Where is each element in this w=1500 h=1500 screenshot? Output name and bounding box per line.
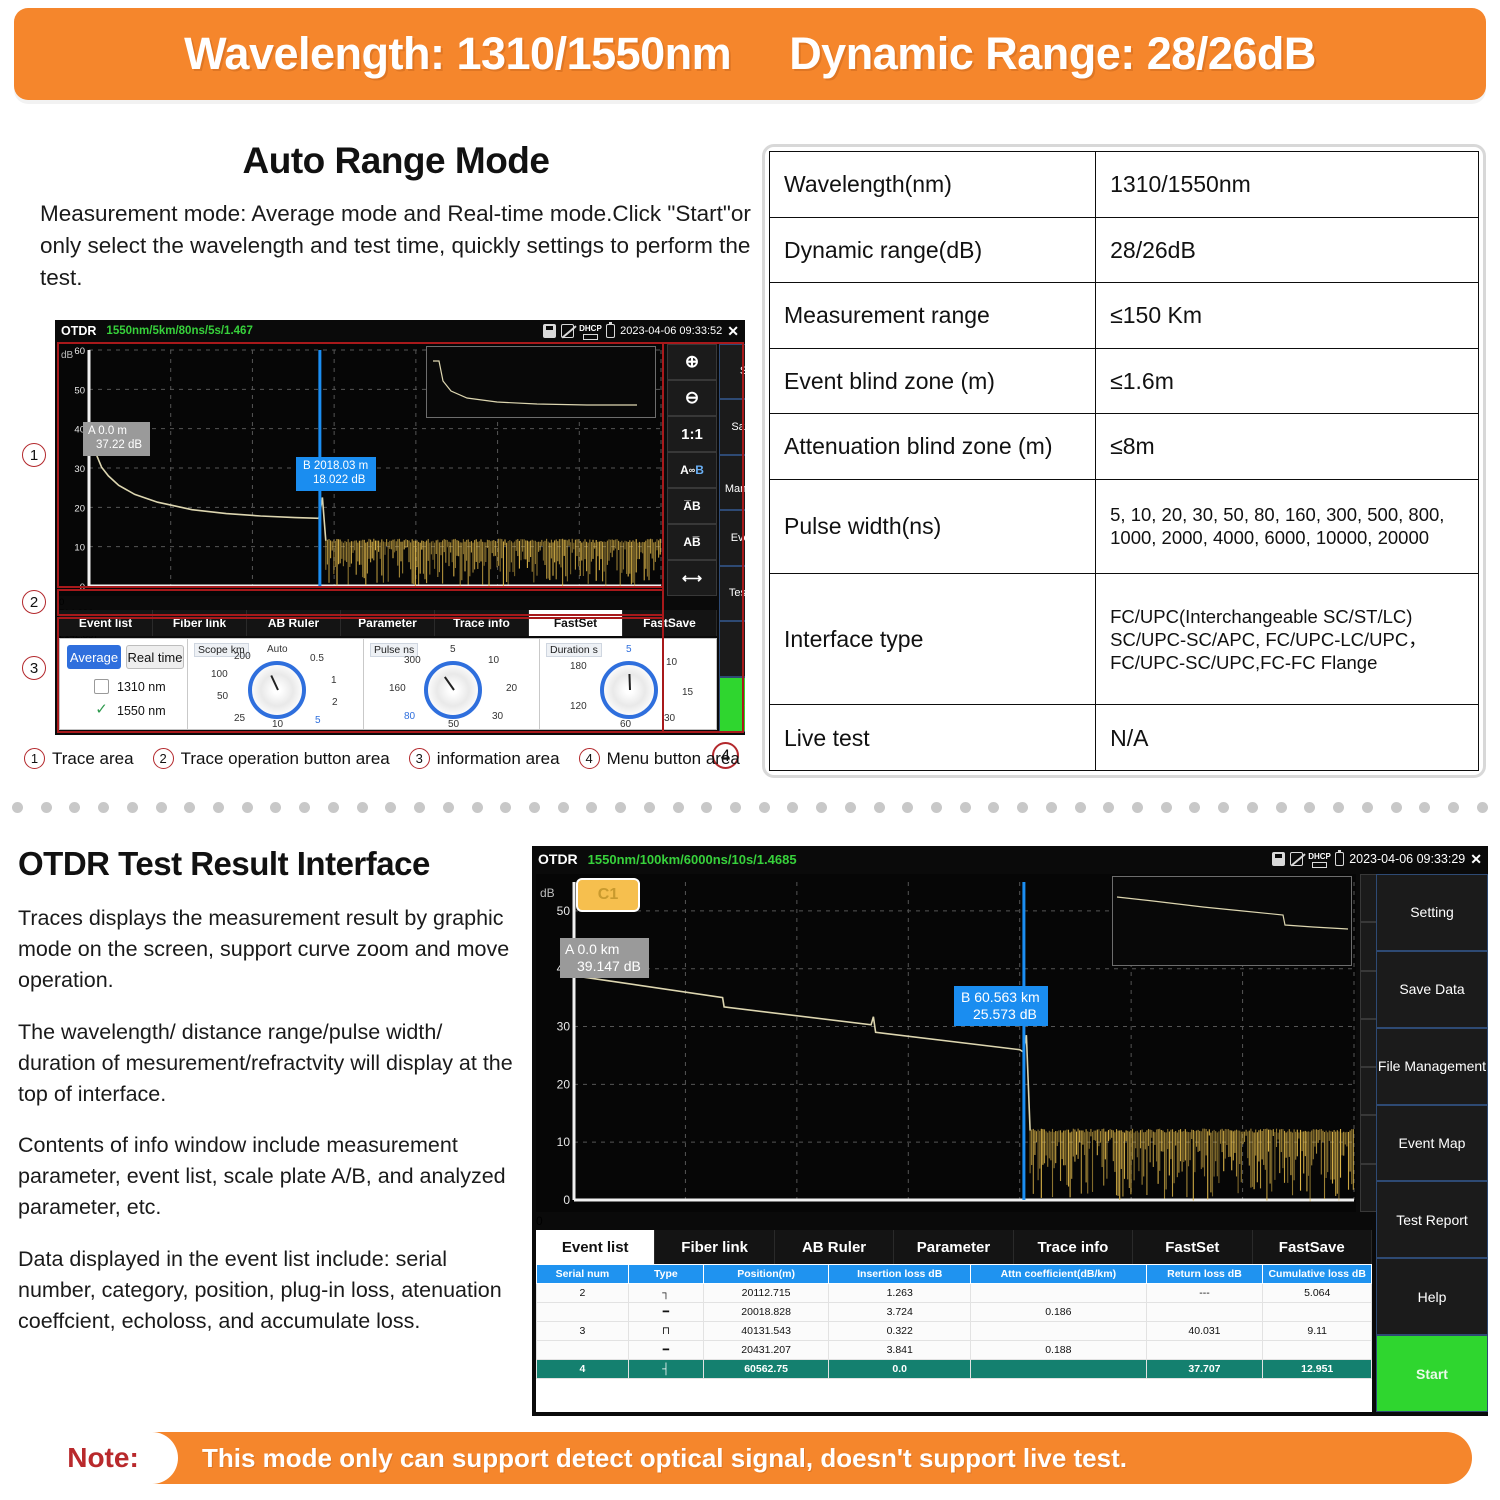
callout-frame-trace-area — [57, 342, 664, 588]
table-row: Interface type FC/UPC(Interchangeable SC… — [770, 574, 1479, 705]
tab-event-list[interactable]: Event list — [536, 1230, 655, 1264]
callout-1: 1 — [22, 443, 46, 467]
cell-position: 20018.828 — [703, 1303, 828, 1322]
auto-range-mode-block: Auto Range Mode Measurement mode: Averag… — [40, 140, 752, 294]
divider-dot — [472, 802, 483, 813]
device1-legend: 1 Trace area 2 Trace operation button ar… — [24, 748, 752, 769]
column-header: Type — [628, 1265, 703, 1284]
svg-text:50: 50 — [557, 904, 571, 918]
battery-icon-2 — [1335, 852, 1344, 866]
otdr-device-screen-2[interactable]: OTDR 1550nm/100km/6000ns/10s/1.4685 DHCP… — [532, 846, 1488, 1416]
callout-frame-info-area — [57, 617, 664, 733]
divider-dot — [41, 802, 52, 813]
banner-dynamic-range: Dynamic Range: 28/26dB — [789, 28, 1316, 80]
divider-dot — [1419, 802, 1430, 813]
device2-menu-buttons[interactable]: SettingSave DataFile ManagementEvent Map… — [1376, 874, 1488, 1412]
divider-dot — [816, 802, 827, 813]
divider-dot — [1103, 802, 1114, 813]
device2-trace-area[interactable]: dB 50403020100 C1 A 0.0 km 39.147 dB B 6… — [536, 874, 1356, 1212]
cell-return-loss: 37.707 — [1146, 1360, 1263, 1379]
cell-insertion-loss: 0.322 — [829, 1322, 971, 1341]
curve-badge-c1[interactable]: C1 — [576, 878, 640, 912]
spec-value: 1310/1550nm — [1096, 152, 1479, 218]
callout-2: 2 — [22, 590, 46, 614]
divider-dot — [730, 802, 741, 813]
marker-a-value-2: 39.147 dB — [565, 958, 641, 975]
reflective-event-icon: ┐ — [628, 1284, 703, 1303]
divider-dot — [12, 802, 23, 813]
divider-dot — [156, 802, 167, 813]
banner-wavelength: Wavelength: 1310/1550nm — [184, 28, 731, 80]
cell-return-loss — [1146, 1303, 1263, 1322]
divider-dot — [1247, 802, 1258, 813]
tab-fiber-link[interactable]: Fiber link — [655, 1230, 774, 1264]
cell-attn-coefficient: 0.186 — [971, 1303, 1146, 1322]
divider-dot — [443, 802, 454, 813]
spec-key: Event blind zone (m) — [770, 348, 1096, 414]
marker-a-2[interactable]: A 0.0 km 39.147 dB — [560, 938, 649, 978]
result-paragraph-4: Data displayed in the event list include… — [18, 1244, 518, 1338]
sim-card-icon-2 — [1272, 852, 1285, 866]
table-row: Attenuation blind zone (m) ≤8m — [770, 414, 1479, 480]
cell-position: 20112.715 — [703, 1284, 828, 1303]
marker-b-label-2: B 60.563 km — [961, 989, 1040, 1006]
table-row[interactable]: ━20018.8283.7240.186 — [537, 1303, 1372, 1322]
marker-b-2[interactable]: B 60.563 km 25.573 dB — [954, 986, 1048, 1026]
fiber-section-icon: ━ — [628, 1341, 703, 1360]
device2-datetime: 2023-04-06 09:33:29 — [1349, 852, 1465, 866]
spec-value: ≤8m — [1096, 414, 1479, 480]
divider-dot — [1218, 802, 1229, 813]
table-row: Event blind zone (m) ≤1.6m — [770, 348, 1479, 414]
cell-position: 20431.207 — [703, 1341, 828, 1360]
cell-attn-coefficient: 0.188 — [971, 1341, 1146, 1360]
divider-dot — [931, 802, 942, 813]
spec-key: Pulse width(ns) — [770, 479, 1096, 574]
divider-dot — [1132, 802, 1143, 813]
legend-num-1: 1 — [24, 748, 45, 769]
dhcp-icon-2: DHCP — [1308, 852, 1330, 866]
dhcp-icon: DHCP — [579, 324, 601, 338]
divider-dot — [414, 802, 425, 813]
callout-frame-menu-area — [662, 342, 744, 733]
no-sdcard-icon-2 — [1290, 852, 1303, 866]
divider-dot — [1391, 802, 1402, 813]
divider-dot — [701, 802, 712, 813]
cell-position: 40131.543 — [703, 1322, 828, 1341]
column-header: Cumulative loss dB — [1263, 1265, 1372, 1284]
table-row[interactable]: 4┤60562.750.037.70712.951 — [537, 1360, 1372, 1379]
device2-titlebar: OTDR 1550nm/100km/6000ns/10s/1.4685 DHCP… — [532, 846, 1488, 872]
callout-3: 3 — [22, 656, 46, 680]
auto-range-description: Measurement mode: Average mode and Real-… — [40, 198, 752, 294]
spec-key: Interface type — [770, 574, 1096, 705]
device2-event-table-wrap[interactable]: Serial numTypePosition(m)Insertion loss … — [536, 1264, 1372, 1412]
svg-text:20: 20 — [557, 1077, 571, 1091]
event-list-table: Serial numTypePosition(m)Insertion loss … — [536, 1264, 1372, 1379]
specification-table-card: Wavelength(nm) 1310/1550nm Dynamic range… — [762, 144, 1486, 778]
divider-dot — [586, 802, 597, 813]
divider-dot — [184, 802, 195, 813]
divider-dot — [960, 802, 971, 813]
svg-text:10: 10 — [557, 1135, 571, 1149]
spec-value: 28/26dB — [1096, 217, 1479, 283]
column-header: Insertion loss dB — [829, 1265, 971, 1284]
column-header: Attn coefficient(dB/km) — [971, 1265, 1146, 1284]
divider-dot — [529, 802, 540, 813]
cell-insertion-loss: 3.724 — [829, 1303, 971, 1322]
divider-dot — [1017, 802, 1028, 813]
cell-cumulative-loss: 5.064 — [1263, 1284, 1372, 1303]
tab-parameter[interactable]: Parameter — [894, 1230, 1013, 1264]
top-banner: Wavelength: 1310/1550nm Dynamic Range: 2… — [14, 8, 1486, 100]
device1-titlebar: OTDR 1550nm/5km/80ns/5s/1.467 DHCP 2023-… — [55, 320, 745, 342]
divider-dot — [759, 802, 770, 813]
legend-num-2: 2 — [153, 748, 174, 769]
spec-key: Attenuation blind zone (m) — [770, 414, 1096, 480]
legend-text-1: Trace area — [52, 749, 134, 769]
table-row[interactable]: 2┐20112.7151.263---5.064 — [537, 1284, 1372, 1303]
divider-dot — [385, 802, 396, 813]
divider-dot — [1276, 802, 1287, 813]
spec-key: Live test — [770, 705, 1096, 771]
cell-attn-coefficient — [971, 1360, 1146, 1379]
page-root: Wavelength: 1310/1550nm Dynamic Range: 2… — [0, 0, 1500, 1500]
table-row: Pulse width(ns) 5, 10, 20, 30, 50, 80, 1… — [770, 479, 1479, 574]
result-paragraph-3: Contents of info window include measurem… — [18, 1130, 518, 1224]
cell-return-loss: 40.031 — [1146, 1322, 1263, 1341]
battery-icon — [606, 324, 615, 338]
spec-value: FC/UPC(Interchangeable SC/ST/LC) SC/UPC-… — [1096, 574, 1479, 705]
cell-serial: 3 — [537, 1322, 629, 1341]
cell-insertion-loss: 3.841 — [829, 1341, 971, 1360]
app-name: OTDR — [61, 324, 96, 338]
marker-a-label-2: A 0.0 km — [565, 941, 641, 958]
device2-tabbar[interactable]: Event listFiber linkAB RulerParameterTra… — [536, 1230, 1372, 1264]
divider-dot — [69, 802, 80, 813]
inset-mini-trace-2 — [1113, 877, 1353, 967]
note-label: Note: — [67, 1442, 139, 1474]
close-icon-2[interactable]: ✕ — [1470, 852, 1482, 866]
cell-return-loss — [1146, 1341, 1263, 1360]
x-tick-label: 0 — [536, 1214, 584, 1228]
table-row[interactable]: ━20431.2073.8410.188 — [537, 1341, 1372, 1360]
menu-button-start[interactable]: Start — [1376, 1335, 1488, 1412]
page-title-test-result: OTDR Test Result Interface — [18, 845, 518, 883]
device2-overview-inset — [1112, 876, 1352, 966]
divider-dot — [242, 802, 253, 813]
divider-dot — [1161, 802, 1172, 813]
divider-dot — [357, 802, 368, 813]
divider-dot — [270, 802, 281, 813]
divider-dot — [558, 802, 569, 813]
cell-cumulative-loss — [1263, 1303, 1372, 1322]
spec-key: Dynamic range(dB) — [770, 217, 1096, 283]
legend-num-3: 3 — [409, 748, 430, 769]
close-icon[interactable]: ✕ — [727, 324, 739, 338]
divider-dot — [787, 802, 798, 813]
event-table-header-row: Serial numTypePosition(m)Insertion loss … — [537, 1265, 1372, 1284]
divider-dot — [1046, 802, 1057, 813]
divider-dot — [1075, 802, 1086, 813]
measurement-params-2: 1550nm/100km/6000ns/10s/1.4685 — [588, 852, 797, 867]
measurement-params: 1550nm/5km/80ns/5s/1.467 — [106, 325, 252, 337]
spec-value: ≤1.6m — [1096, 348, 1479, 414]
callout-frame-tabbar — [57, 589, 664, 616]
cell-serial — [537, 1303, 629, 1322]
table-row: Measurement range ≤150 Km — [770, 283, 1479, 349]
menu-button-help[interactable]: Help — [1376, 1258, 1488, 1335]
divider-dot — [988, 802, 999, 813]
tab-trace-info[interactable]: Trace info — [1014, 1230, 1133, 1264]
menu-button-setting[interactable]: Setting — [1376, 874, 1488, 951]
device2-x-axis-labels: 016.1932.38148.57164.76280.95297.143km — [536, 1214, 1356, 1229]
app-name-2: OTDR — [538, 851, 578, 867]
svg-text:0: 0 — [563, 1193, 570, 1207]
divider-dot — [1448, 802, 1459, 813]
device1-datetime: 2023-04-06 09:33:52 — [620, 325, 722, 337]
divider-dot — [328, 802, 339, 813]
legend-num-4: 4 — [579, 748, 600, 769]
legend-text-2: Trace operation button area — [181, 749, 390, 769]
divider-dot — [127, 802, 138, 813]
cell-cumulative-loss: 12.951 — [1263, 1360, 1372, 1379]
divider-dot — [874, 802, 885, 813]
tab-fastset[interactable]: FastSet — [1133, 1230, 1252, 1264]
cell-insertion-loss: 1.263 — [829, 1284, 971, 1303]
reflective-peak-icon: ⊓ — [628, 1322, 703, 1341]
cell-serial: 4 — [537, 1360, 629, 1379]
spec-key: Wavelength(nm) — [770, 152, 1096, 218]
column-header: Return loss dB — [1146, 1265, 1263, 1284]
spec-value: 5, 10, 20, 30, 50, 80, 160, 300, 500, 80… — [1096, 479, 1479, 574]
divider-dot — [213, 802, 224, 813]
cell-attn-coefficient — [971, 1284, 1146, 1303]
cell-attn-coefficient — [971, 1322, 1146, 1341]
column-header: Serial num — [537, 1265, 629, 1284]
divider-dot — [673, 802, 684, 813]
spec-key: Measurement range — [770, 283, 1096, 349]
otdr-result-text-block: OTDR Test Result Interface Traces displa… — [18, 845, 518, 1337]
note-text: This mode only can support detect optica… — [202, 1443, 1127, 1474]
no-sdcard-icon — [561, 324, 574, 338]
divider-dot — [1477, 802, 1488, 813]
fiber-end-icon: ┤ — [628, 1360, 703, 1379]
divider-dot — [1189, 802, 1200, 813]
table-row: Wavelength(nm) 1310/1550nm — [770, 152, 1479, 218]
divider-dot — [1362, 802, 1373, 813]
result-paragraph-2: The wavelength/ distance range/pulse wid… — [18, 1017, 518, 1111]
table-row: Dynamic range(dB) 28/26dB — [770, 217, 1479, 283]
page-title-auto-range: Auto Range Mode — [40, 140, 752, 182]
column-header: Position(m) — [703, 1265, 828, 1284]
divider-dot — [1304, 802, 1315, 813]
marker-b-value-2: 25.573 dB — [961, 1006, 1040, 1023]
divider-dot — [615, 802, 626, 813]
specification-table: Wavelength(nm) 1310/1550nm Dynamic range… — [769, 151, 1479, 771]
sim-card-icon — [543, 324, 556, 338]
cell-cumulative-loss — [1263, 1341, 1372, 1360]
legend-text-4: Menu button area — [607, 749, 740, 769]
divider-dot — [902, 802, 913, 813]
legend-text-3: information area — [437, 749, 560, 769]
bottom-note-bar: Note: This mode only can support detect … — [28, 1432, 1472, 1484]
tab-ab-ruler[interactable]: AB Ruler — [775, 1230, 894, 1264]
cell-serial: 2 — [537, 1284, 629, 1303]
divider-dot — [1333, 802, 1344, 813]
tab-fastsave[interactable]: FastSave — [1253, 1230, 1372, 1264]
spec-value: N/A — [1096, 705, 1479, 771]
note-badge: Note: — [28, 1432, 178, 1484]
svg-text:30: 30 — [557, 1020, 571, 1034]
divider-dot — [299, 802, 310, 813]
divider-dot — [500, 802, 511, 813]
cell-insertion-loss: 0.0 — [829, 1360, 971, 1379]
cell-position: 60562.75 — [703, 1360, 828, 1379]
result-paragraph-1: Traces displays the measurement result b… — [18, 903, 518, 997]
cell-cumulative-loss: 9.11 — [1263, 1322, 1372, 1341]
divider-dot — [644, 802, 655, 813]
menu-button-file-management[interactable]: File Management — [1376, 1028, 1488, 1105]
spec-value: ≤150 Km — [1096, 283, 1479, 349]
dotted-divider — [12, 800, 1488, 814]
divider-dot — [98, 802, 109, 813]
divider-dot — [845, 802, 856, 813]
table-row[interactable]: 3⊓40131.5430.32240.0319.11 — [537, 1322, 1372, 1341]
table-row: Live test N/A — [770, 705, 1479, 771]
menu-button-event-map[interactable]: Event Map — [1376, 1105, 1488, 1182]
cell-serial — [537, 1341, 629, 1360]
menu-button-save-data[interactable]: Save Data — [1376, 951, 1488, 1028]
fiber-section-icon: ━ — [628, 1303, 703, 1322]
cell-return-loss: --- — [1146, 1284, 1263, 1303]
menu-button-test-report[interactable]: Test Report — [1376, 1181, 1488, 1258]
